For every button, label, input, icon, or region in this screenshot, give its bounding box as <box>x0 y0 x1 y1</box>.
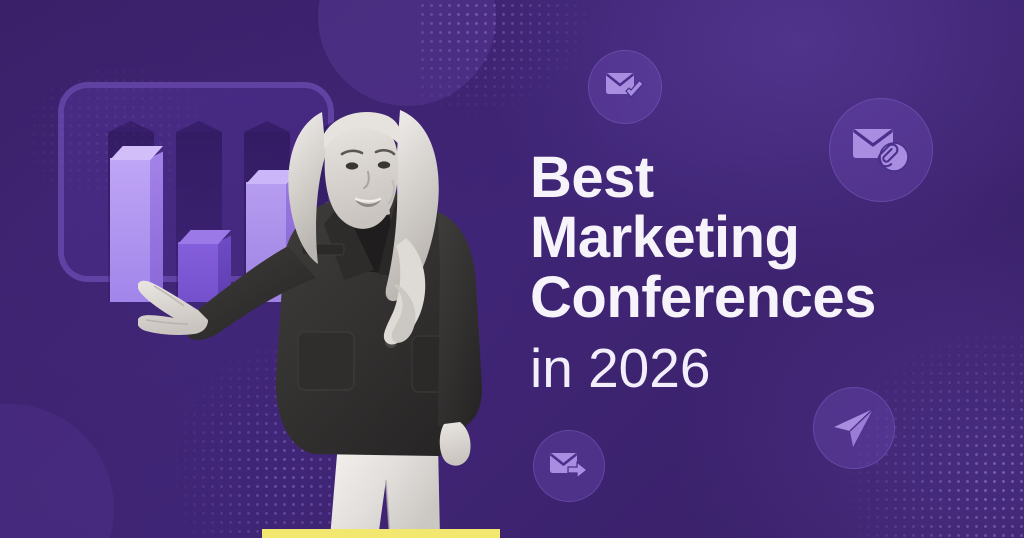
presenter-photo <box>138 88 518 538</box>
mail-forward-icon <box>533 430 605 502</box>
send-plane-icon <box>813 387 895 469</box>
marketing-conference-banner: Best Marketing Conferences in 2026 <box>0 0 1024 538</box>
accent-bar <box>262 529 500 538</box>
headline-line-1: Best <box>530 148 1000 208</box>
headline-line-2: Marketing <box>530 208 1000 268</box>
headline-subline: in 2026 <box>530 340 1000 398</box>
mail-check-icon <box>588 50 662 124</box>
headline-line-3: Conferences <box>530 268 1000 328</box>
headline-block: Best Marketing Conferences in 2026 <box>530 148 1000 398</box>
